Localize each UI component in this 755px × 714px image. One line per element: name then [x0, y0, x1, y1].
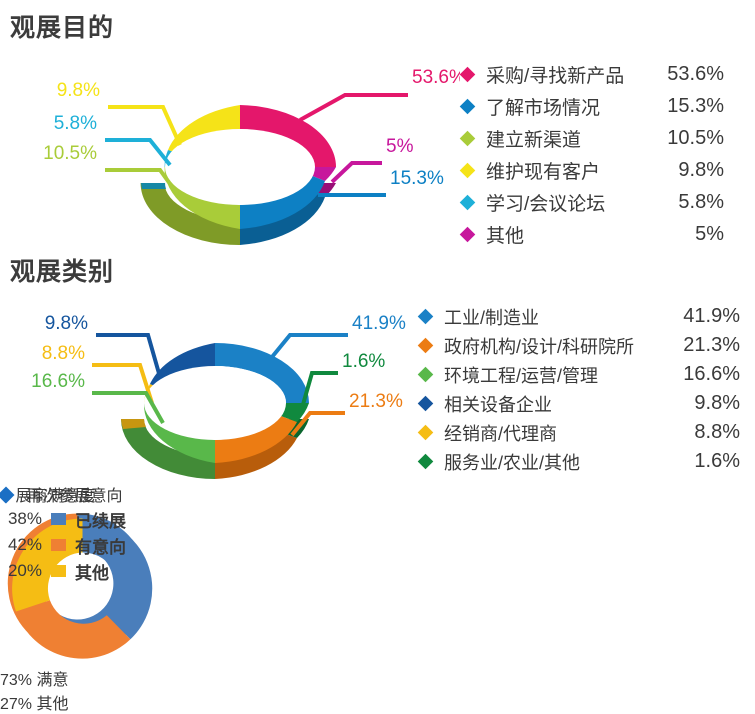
legend-label: 维护现有客户 [486, 157, 646, 184]
legend-value: 42% [0, 535, 42, 555]
legend-item[interactable]: 工业/制造业 41.9% [420, 302, 740, 331]
panel-rebook: 再次参展意向 38% 已续展 42% 有意向 20% 其他 [0, 482, 122, 682]
legend-value: 15.3% [646, 95, 724, 118]
legend-label: 已续展 [75, 507, 126, 532]
legend-item[interactable]: 政府机构/设计/科研院所 21.3% [420, 331, 740, 360]
legend-label: 建立新渠道 [486, 125, 646, 152]
legend-value: 5% [646, 223, 724, 246]
legend-marker-icon [460, 194, 476, 210]
legend-marker-icon [460, 98, 476, 114]
callout-value: 53.6% [412, 67, 460, 88]
legend-marker-icon [51, 513, 66, 525]
legend-item[interactable]: 环境工程/运营/管理 16.6% [420, 360, 740, 389]
legend-marker-icon [418, 309, 434, 325]
legend-label: 有意向 [75, 533, 126, 558]
callout-value: 1.6% [342, 351, 385, 372]
donut-chart-category-svg: 41.9% 1.6% 21.3% 9.8% 8.8% 16.6% [0, 295, 420, 485]
legend-label: 工业/制造业 [444, 304, 666, 330]
legend-value: 16.6% [666, 363, 740, 386]
legend-item[interactable]: 建立新渠道 10.5% [462, 122, 724, 154]
legend-marker-icon [418, 396, 434, 412]
panel-title-text: 再次参展意向 [26, 488, 122, 505]
donut-chart-category: 41.9% 1.6% 21.3% 9.8% 8.8% 16.6% [0, 295, 420, 485]
callout-value: 16.6% [31, 371, 85, 392]
legend-marker-icon [460, 130, 476, 146]
legend-marker-icon [51, 565, 66, 577]
callout-value: 15.3% [390, 168, 444, 189]
legend-item[interactable]: 了解市场情况 15.3% [462, 90, 724, 122]
legend-item[interactable]: 相关设备企业 9.8% [420, 389, 740, 418]
legend-marker-icon [460, 162, 476, 178]
legend-label: 政府机构/设计/科研院所 [444, 333, 666, 359]
legend-item[interactable]: 服务业/农业/其他 1.6% [420, 447, 740, 476]
legend-value: 20% [0, 561, 42, 581]
donut-chart-purpose: 53.6% 5% 15.3% 9.8% 5.8% 10.5% [0, 45, 460, 245]
callout-value: 41.9% [352, 313, 406, 334]
legend-label: 其他 [36, 696, 68, 713]
legend-label: 其他 [75, 559, 109, 584]
legend-purpose: 采购/寻找新产品 53.6% 了解市场情况 15.3% 建立新渠道 10.5% … [462, 58, 724, 250]
donut-chart-purpose-svg: 53.6% 5% 15.3% 9.8% 5.8% 10.5% [0, 45, 460, 245]
callout-value: 21.3% [349, 391, 403, 412]
legend-marker-icon [418, 367, 434, 383]
legend-value: 9.8% [666, 392, 740, 415]
page-title-category: 观展类别 [10, 252, 114, 288]
callout-value: 8.8% [42, 343, 85, 364]
legend-value: 53.6% [646, 63, 724, 86]
legend-category: 工业/制造业 41.9% 政府机构/设计/科研院所 21.3% 环境工程/运营/… [420, 302, 740, 476]
legend-marker-icon [418, 338, 434, 354]
callout-value: 5% [386, 136, 414, 157]
callout-value: 10.5% [43, 143, 97, 164]
legend-value: 41.9% [666, 305, 740, 328]
legend-label: 了解市场情况 [486, 93, 646, 120]
legend-value: 21.3% [666, 334, 740, 357]
legend-marker-icon [460, 66, 476, 82]
callout-value: 5.8% [54, 113, 97, 134]
legend-label: 其他 [486, 221, 646, 248]
legend-value: 9.8% [646, 159, 724, 182]
legend-label: 相关设备企业 [444, 391, 666, 417]
legend-label: 经销商/代理商 [444, 420, 666, 446]
legend-label: 环境工程/运营/管理 [444, 362, 666, 388]
legend-marker-icon [418, 454, 434, 470]
callout-value: 9.8% [45, 313, 88, 334]
legend-item[interactable]: 经销商/代理商 8.8% [420, 418, 740, 447]
legend-value: 27% [0, 696, 32, 713]
legend-label: 采购/寻找新产品 [486, 61, 646, 88]
legend-value: 1.6% [666, 450, 740, 473]
legend-value: 10.5% [646, 127, 724, 150]
bullet-diamond-icon [0, 487, 14, 504]
callout-value: 9.8% [57, 80, 100, 101]
panel-rebook-title: 再次参展意向 [0, 482, 122, 506]
legend-value: 38% [0, 509, 42, 529]
legend-label: 服务业/农业/其他 [444, 449, 666, 475]
legend-item[interactable]: 学习/会议论坛 5.8% [462, 186, 724, 218]
legend-rebook: 38% 已续展 42% 有意向 20% 其他 [0, 506, 126, 584]
legend-item[interactable]: 27% 其他 [0, 690, 380, 714]
legend-item[interactable]: 其他 5% [462, 218, 724, 250]
legend-item[interactable]: 维护现有客户 9.8% [462, 154, 724, 186]
legend-marker-icon [460, 226, 476, 242]
legend-marker-icon [51, 539, 66, 551]
legend-value: 8.8% [666, 421, 740, 444]
legend-label: 学习/会议论坛 [486, 189, 646, 216]
legend-item[interactable]: 20% 其他 [0, 558, 126, 584]
legend-item[interactable]: 采购/寻找新产品 53.6% [462, 58, 724, 90]
legend-item[interactable]: 38% 已续展 [0, 506, 126, 532]
page-title-purpose: 观展目的 [10, 8, 114, 44]
legend-item[interactable]: 42% 有意向 [0, 532, 126, 558]
legend-value: 5.8% [646, 191, 724, 214]
legend-marker-icon [418, 425, 434, 441]
